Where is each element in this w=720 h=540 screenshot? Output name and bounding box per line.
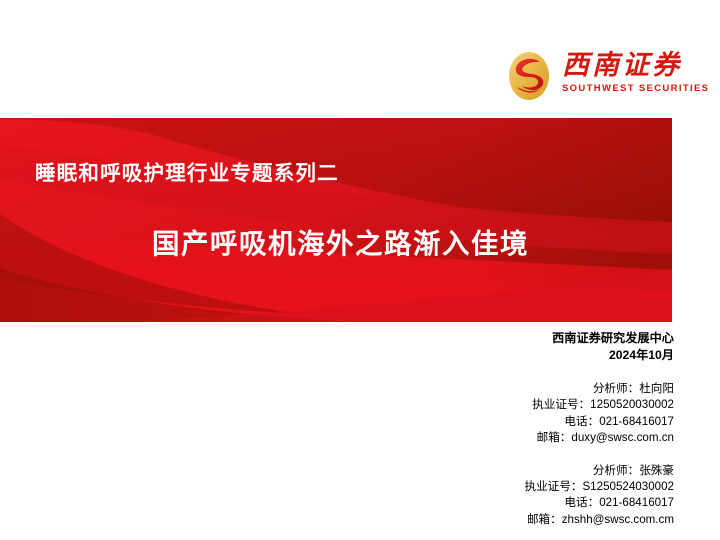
analyst-license: 执业证号：1250520030002: [254, 397, 674, 413]
analyst-phone: 电话：021-68416017: [254, 495, 674, 511]
southwest-securities-circle-swirl-icon: [505, 50, 553, 102]
brand-name-en: SOUTHWEST SECURITIES: [562, 83, 709, 94]
analyst-block-1: 分析师：杜向阳 执业证号：1250520030002 电话：021-684160…: [254, 381, 674, 447]
analyst-license: 执业证号：S1250524030002: [254, 479, 674, 495]
analyst-email: 邮箱：zhshh@swsc.com.cm: [254, 512, 674, 528]
analyst-name: 分析师：杜向阳: [254, 381, 674, 397]
presentation-cover-slide: 西南证券 SOUTHWEST SECURITIES: [0, 0, 720, 540]
analyst-name: 分析师：张殊豪: [254, 463, 674, 479]
organization-name: 西南证券研究发展中心: [254, 330, 674, 347]
brand-logo: 西南证券 SOUTHWEST SECURITIES: [505, 48, 705, 106]
cover-info-block: 西南证券研究发展中心 2024年10月 分析师：杜向阳 执业证号：1250520…: [254, 330, 674, 528]
analyst-phone: 电话：021-68416017: [254, 414, 674, 430]
analyst-block-2: 分析师：张殊豪 执业证号：S1250524030002 电话：021-68416…: [254, 463, 674, 529]
banner-title: 国产呼吸机海外之路渐入佳境: [152, 221, 529, 261]
title-banner: 睡眠和呼吸护理行业专题系列二 国产呼吸机海外之路渐入佳境: [0, 118, 672, 322]
brand-name-cn: 西南证券: [562, 52, 709, 80]
report-date: 2024年10月: [254, 347, 674, 364]
banner-subtitle: 睡眠和呼吸护理行业专题系列二: [35, 156, 339, 186]
analyst-email: 邮箱：duxy@swsc.com.cn: [254, 430, 674, 446]
